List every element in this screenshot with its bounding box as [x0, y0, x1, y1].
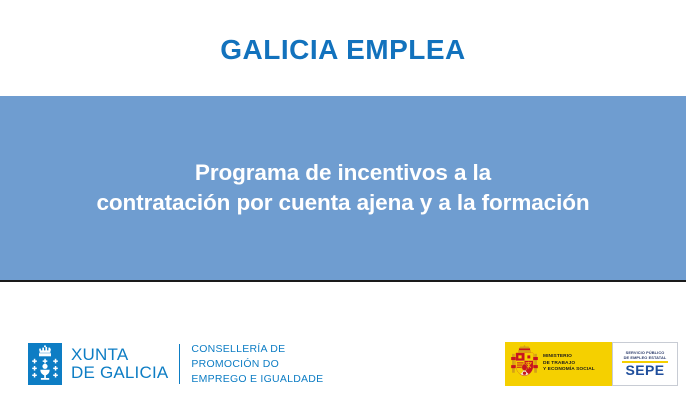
xunta-de-galicia-logo: XUNTA DE GALICIA CONSELLERÍA DE PROMOCIÓ…: [28, 342, 323, 387]
ministerio-sepe-logo-group: MINISTERIO DE TRABAJO Y ECONOMÍA SOCIAL …: [505, 342, 678, 386]
xunta-wordmark: XUNTA DE GALICIA: [71, 346, 168, 382]
program-banner-text: Programa de incentivos a la contratación…: [23, 158, 663, 219]
header-band: GALICIA EMPLEA: [0, 0, 686, 96]
conselleria-line-2: PROMOCIÓN DO: [191, 357, 323, 372]
page-title: GALICIA EMPLEA: [220, 36, 466, 64]
footer-logos: XUNTA DE GALICIA CONSELLERÍA DE PROMOCIÓ…: [0, 284, 686, 410]
conselleria-line-1: CONSELLERÍA DE: [191, 342, 323, 357]
ministerio-line-1: MINISTERIO: [543, 354, 595, 361]
sepe-full-name-line-2: DE EMPLEO ESTATAL: [624, 355, 667, 360]
program-banner-line-2: contratación por cuenta ajena y a la for…: [23, 188, 663, 218]
ministerio-de-trabajo-logo: MINISTERIO DE TRABAJO Y ECONOMÍA SOCIAL: [505, 342, 612, 386]
conselleria-line-3: EMPREGO E IGUALDADE: [191, 372, 323, 387]
program-banner: Programa de incentivos a la contratación…: [0, 96, 686, 282]
program-banner-line-1: Programa de incentivos a la: [23, 158, 663, 188]
xunta-wordmark-line-2: DE GALICIA: [71, 364, 168, 382]
logo-divider: [179, 344, 180, 384]
ministerio-line-3: Y ECONOMÍA SOCIAL: [543, 367, 595, 374]
xunta-coat-of-arms-icon: [28, 343, 62, 385]
xunta-wordmark-line-1: XUNTA: [71, 346, 168, 364]
ministerio-label: MINISTERIO DE TRABAJO Y ECONOMÍA SOCIAL: [543, 354, 595, 374]
sepe-logo: SERVICIO PÚBLICO DE EMPLEO ESTATAL SEPE: [612, 342, 678, 386]
conselleria-name: CONSELLERÍA DE PROMOCIÓN DO EMPREGO E IG…: [191, 342, 323, 387]
sepe-acronym: SEPE: [626, 363, 665, 378]
sepe-full-name: SERVICIO PÚBLICO DE EMPLEO ESTATAL: [624, 350, 667, 360]
spain-coat-of-arms-icon: [511, 345, 538, 383]
